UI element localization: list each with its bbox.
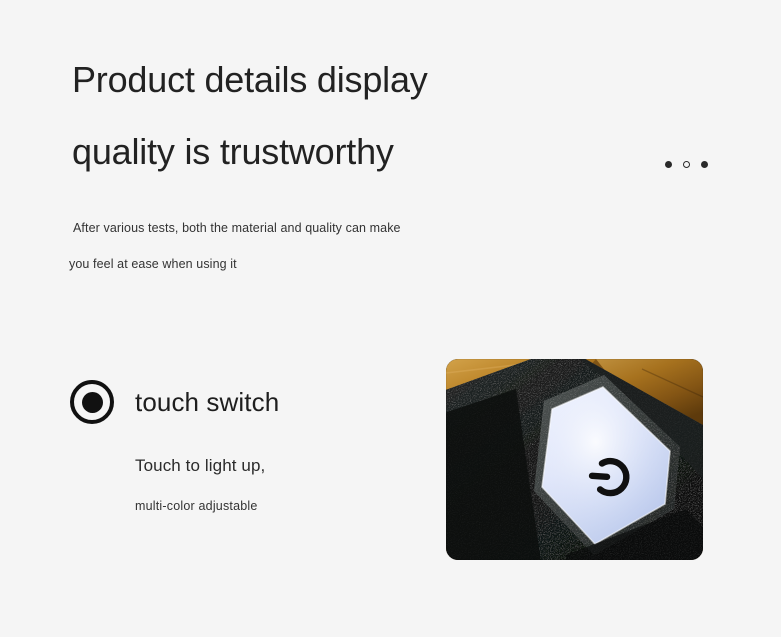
pagination-dot-3[interactable] [701,161,708,168]
page-headline: Product details display quality is trust… [72,44,632,188]
bullseye-icon [70,380,114,424]
feature-header: touch switch [70,380,410,424]
pagination-dot-1[interactable] [665,161,672,168]
headline-line-2: quality is trustworthy [72,116,632,188]
feature-subtitle-primary: Touch to light up, [135,456,410,476]
subcopy-line-2: you feel at ease when using it [69,246,499,282]
subcopy-line-1: After various tests, both the material a… [69,210,499,246]
product-photo-touch-panel [446,359,703,560]
headline-line-1: Product details display [72,44,632,116]
feature-subtitle-secondary: multi-color adjustable [135,499,410,513]
bullseye-core-icon [82,392,103,413]
subcopy-block: After various tests, both the material a… [69,210,499,282]
product-photo-illustration [446,359,703,560]
pagination-dot-2[interactable] [683,161,690,168]
feature-title: touch switch [135,387,279,418]
feature-touch-switch: touch switch Touch to light up, multi-co… [70,380,410,513]
carousel-pagination[interactable] [665,161,708,168]
